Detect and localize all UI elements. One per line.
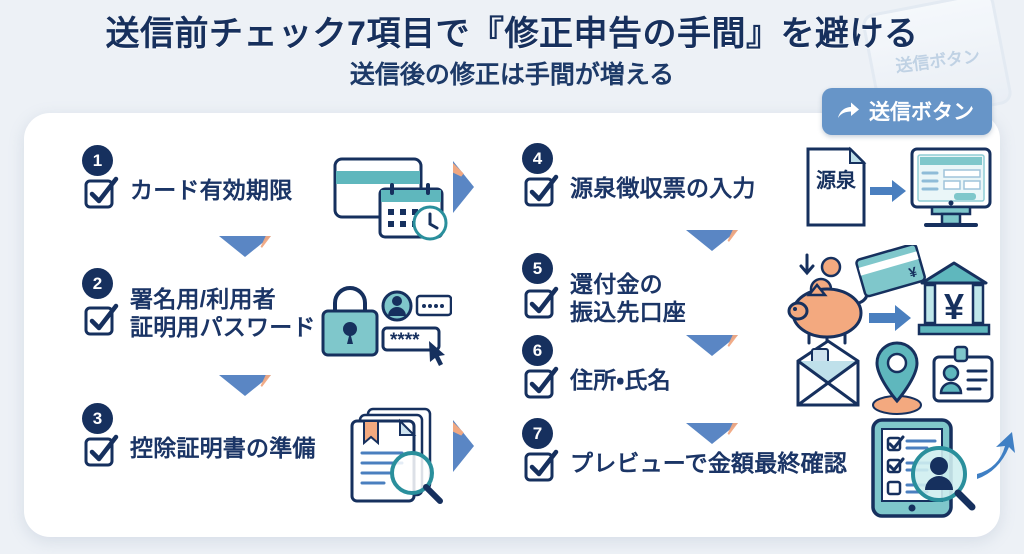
arrow-right-3-7 bbox=[453, 420, 474, 472]
checklist-column-right: 4 源泉徴収票の入力 源泉 bbox=[494, 113, 1000, 537]
credit-card-calendar-clock-icon bbox=[332, 153, 452, 248]
svg-text:¥: ¥ bbox=[944, 286, 964, 327]
step-number-badge: 7 bbox=[522, 418, 553, 449]
step-number-badge: 1 bbox=[82, 145, 113, 176]
step-number-badge: 3 bbox=[82, 403, 113, 434]
checkbox-checked-icon[interactable] bbox=[523, 285, 559, 326]
page-subtitle: 送信後の修正は手間が増える bbox=[0, 54, 1024, 90]
page-title: 送信前チェック7項目で『修正申告の手間』を避ける bbox=[0, 0, 1024, 54]
step-label: カード有効期限 bbox=[130, 176, 292, 204]
step-label: 控除証明書の準備 bbox=[130, 434, 316, 462]
step-number-badge: 6 bbox=[522, 335, 553, 366]
slip-label: 源泉 bbox=[816, 168, 857, 192]
checkbox-checked-icon[interactable] bbox=[83, 175, 119, 216]
arrow-down-2-3 bbox=[219, 375, 271, 396]
send-button-label: 送信ボタン bbox=[869, 96, 974, 126]
padlock-password-icon: **** bbox=[317, 278, 452, 373]
checkbox-checked-icon[interactable] bbox=[83, 433, 119, 474]
checkbox-checked-icon[interactable] bbox=[523, 448, 559, 489]
checkbox-checked-icon[interactable] bbox=[523, 365, 559, 406]
tablet-checklist-magnifier-icon bbox=[867, 416, 1017, 526]
step-item-7[interactable]: 7 プレビューで金額最終確認 bbox=[522, 418, 992, 518]
step-label: 還付金の 振込先口座 bbox=[570, 270, 686, 326]
checklist-column-left: 1 カード有効期限 bbox=[24, 113, 514, 537]
documents-magnifier-icon bbox=[342, 405, 452, 510]
withholding-slip-to-monitor-icon: 源泉 bbox=[804, 143, 994, 243]
step-item-2[interactable]: 2 署名用/利用者 証明用パスワード bbox=[82, 268, 502, 373]
step-item-1[interactable]: 1 カード有効期限 bbox=[82, 145, 502, 245]
step-item-4[interactable]: 4 源泉徴収票の入力 源泉 bbox=[522, 143, 992, 238]
checklist-card: 1 カード有効期限 bbox=[24, 113, 1000, 537]
step-number-badge: 2 bbox=[82, 268, 113, 299]
step-label: 源泉徴収票の入力 bbox=[570, 174, 756, 202]
step-label: 署名用/利用者 証明用パスワード bbox=[130, 285, 316, 341]
send-button-badge[interactable]: 送信ボタン bbox=[822, 88, 992, 135]
arrow-down-4-5 bbox=[686, 230, 738, 251]
step-label: プレビューで金額最終確認 bbox=[570, 449, 847, 477]
step-item-3[interactable]: 3 控除証明書の準備 bbox=[82, 403, 502, 503]
arrow-down-1-2 bbox=[219, 236, 271, 257]
step-number-badge: 5 bbox=[522, 253, 553, 284]
checkbox-checked-icon[interactable] bbox=[83, 302, 119, 343]
step-label: 住所・氏名 bbox=[570, 366, 671, 394]
svg-text:****: **** bbox=[390, 330, 420, 351]
arrow-right-1-4 bbox=[453, 161, 474, 213]
checkbox-checked-icon[interactable] bbox=[523, 173, 559, 214]
share-arrow-icon bbox=[836, 101, 860, 121]
step-number-badge: 4 bbox=[522, 143, 553, 174]
